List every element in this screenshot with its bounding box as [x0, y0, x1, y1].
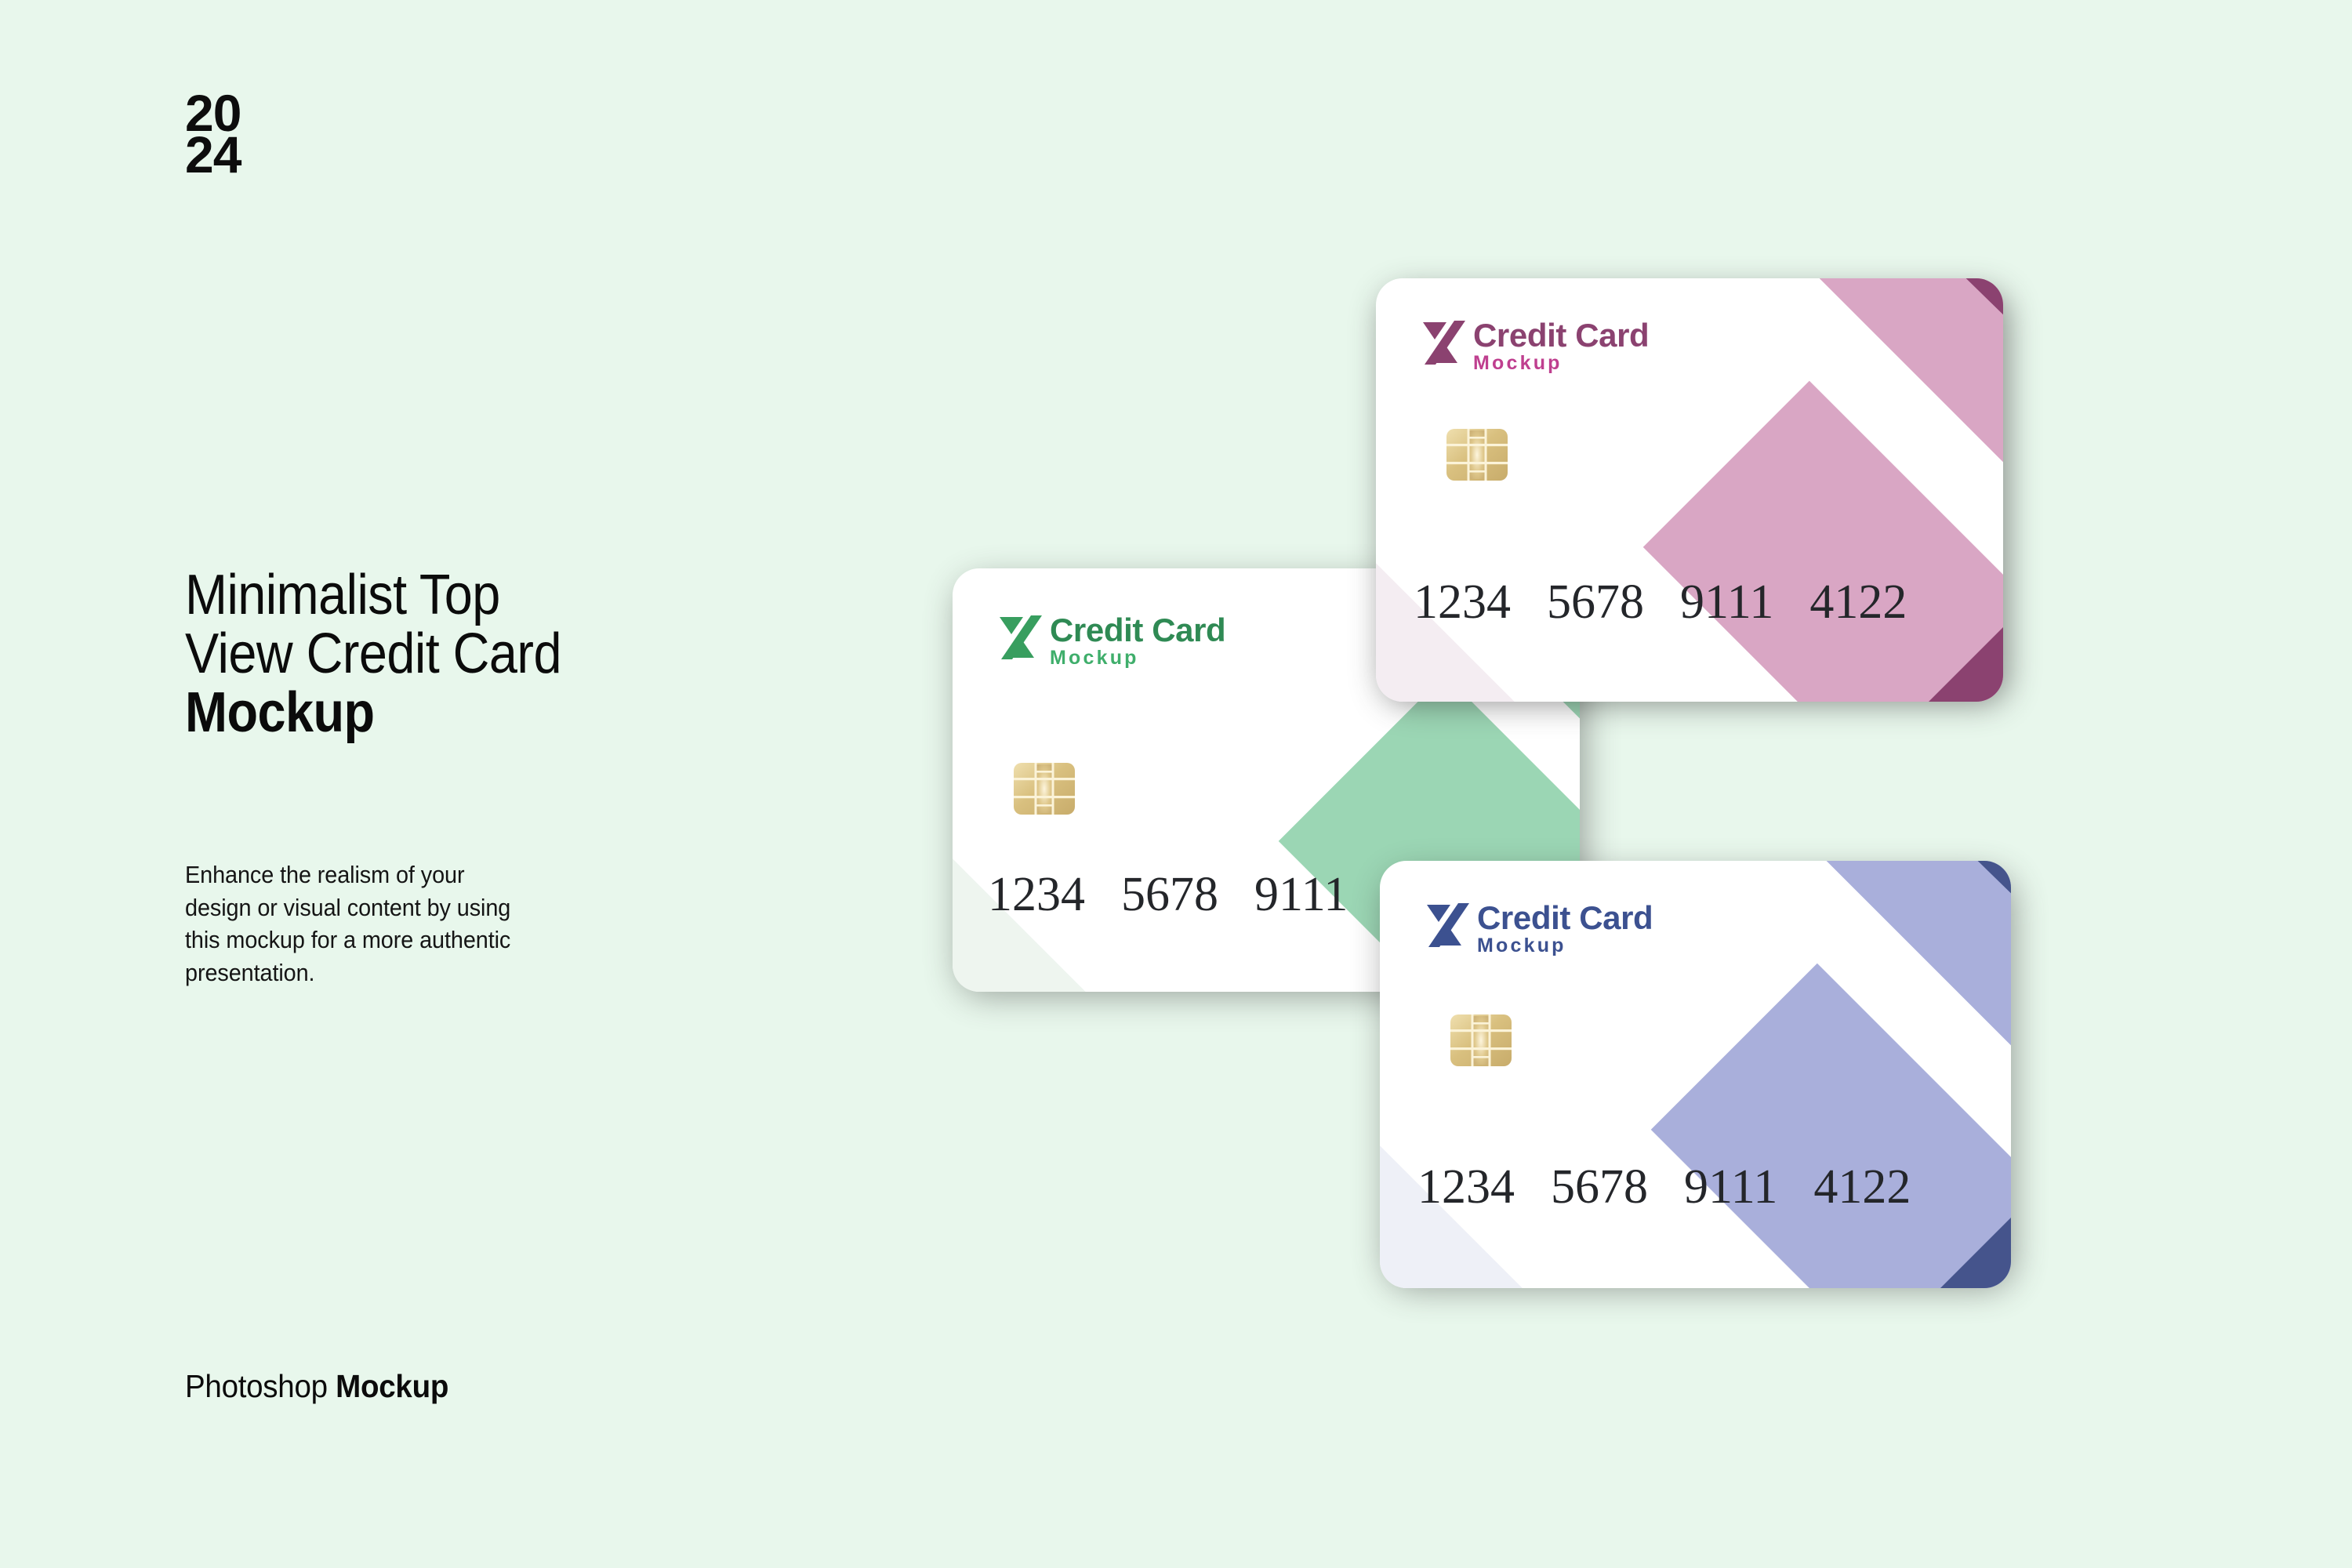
footer-caption-regular: Photoshop	[185, 1368, 336, 1404]
headline-line-2: View Credit Card	[185, 625, 735, 684]
accent-band-light-bottom	[1643, 381, 2003, 702]
card-number-group-3: 9111	[1254, 870, 1348, 919]
headline-line-3: Mockup	[185, 684, 735, 742]
year-label: 20 24	[185, 93, 241, 176]
card-logo: Credit Card Mockup	[998, 614, 1225, 670]
emv-chip-icon	[1014, 763, 1075, 815]
blurb-line-4: presentation.	[185, 956, 739, 989]
blurb-line-3: this mockup for a more authentic	[185, 924, 739, 956]
blurb-line-1: Enhance the realism of your	[185, 858, 739, 891]
year-line-2: 24	[185, 134, 241, 176]
card-number-group-4: 4122	[1813, 1163, 1911, 1211]
card-number: 1234567891114122	[1414, 578, 1907, 626]
card-logo: Credit Card Mockup	[1421, 319, 1649, 375]
card-face[interactable]: Credit Card Mockup 1234567891114122	[1380, 861, 2011, 1288]
card-logo-title: Credit Card	[1477, 902, 1653, 934]
card-number-group-3: 9111	[1680, 578, 1773, 626]
card-logo-title: Credit Card	[1473, 319, 1649, 351]
page-title: Minimalist Top View Credit Card Mockup	[185, 566, 735, 742]
card-number-group-1: 1234	[1414, 578, 1511, 626]
brand-x-icon	[1425, 902, 1472, 949]
emv-chip-icon	[1446, 429, 1508, 481]
headline-line-1: Minimalist Top	[185, 566, 735, 625]
card-number-group-1: 1234	[988, 870, 1085, 919]
accent-band-light-bottom	[1651, 964, 2011, 1288]
blurb-line-2: design or visual content by using	[185, 891, 739, 924]
footer-caption-bold: Mockup	[336, 1368, 448, 1404]
card-number-group-3: 9111	[1684, 1163, 1777, 1211]
card-logo-subtitle: Mockup	[1477, 935, 1653, 957]
poster-canvas: 20 24 Minimalist Top View Credit Card Mo…	[0, 0, 2352, 1568]
card-logo-subtitle: Mockup	[1473, 353, 1649, 375]
card-number: 1234567891114122	[1417, 1163, 1911, 1211]
footer-caption: Photoshop Mockup	[185, 1368, 448, 1405]
card-logo-text: Credit Card Mockup	[1477, 902, 1653, 957]
emv-chip-icon	[1450, 1014, 1512, 1066]
card-logo-title: Credit Card	[1050, 614, 1225, 646]
card-logo-text: Credit Card Mockup	[1050, 614, 1225, 670]
brand-x-icon	[1421, 319, 1468, 366]
card-number-group-2: 5678	[1121, 870, 1218, 919]
card-face[interactable]: Credit Card Mockup 1234567891114122	[1376, 278, 2003, 702]
card-number-group-1: 1234	[1417, 1163, 1515, 1211]
card-logo-text: Credit Card Mockup	[1473, 319, 1649, 375]
card-number-group-2: 5678	[1551, 1163, 1648, 1211]
description-paragraph: Enhance the realism of your design or vi…	[185, 858, 739, 989]
card-logo-subtitle: Mockup	[1050, 648, 1225, 670]
brand-x-icon	[998, 614, 1045, 661]
card-number-group-2: 5678	[1547, 578, 1644, 626]
card-number-group-4: 4122	[1809, 578, 1907, 626]
card-logo: Credit Card Mockup	[1425, 902, 1653, 957]
